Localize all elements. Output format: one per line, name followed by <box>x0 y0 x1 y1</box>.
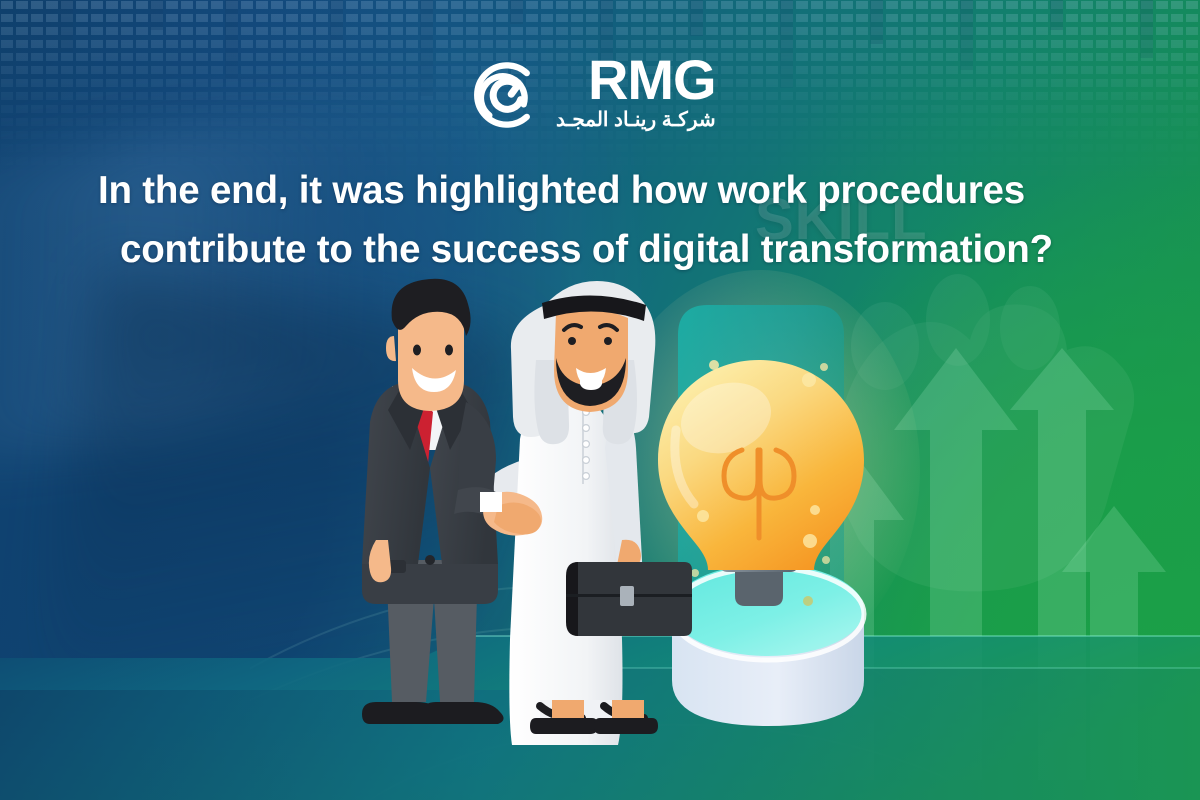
rmg-wordmark: RMG <box>588 54 716 106</box>
dress-shoes <box>362 702 504 724</box>
headline-line-2: contribute to the success of digital tra… <box>98 221 1108 280</box>
headline: In the end, it was highlighted how work … <box>98 162 1108 279</box>
headline-line-1: In the end, it was highlighted how work … <box>98 162 1108 221</box>
banner-root: SKILL RMG شركـة رينـاد المجـد In the end… <box>0 0 1200 800</box>
ear <box>386 336 396 361</box>
rmg-logo[interactable]: RMG شركـة رينـاد المجـد <box>466 52 756 144</box>
rmg-arabic-name: شركـة رينـاد المجـد <box>556 108 716 133</box>
briefcase <box>566 562 692 636</box>
rmg-logo-text: RMG شركـة رينـاد المجـد <box>556 52 716 133</box>
rmg-spiral-logo-icon <box>466 56 544 134</box>
